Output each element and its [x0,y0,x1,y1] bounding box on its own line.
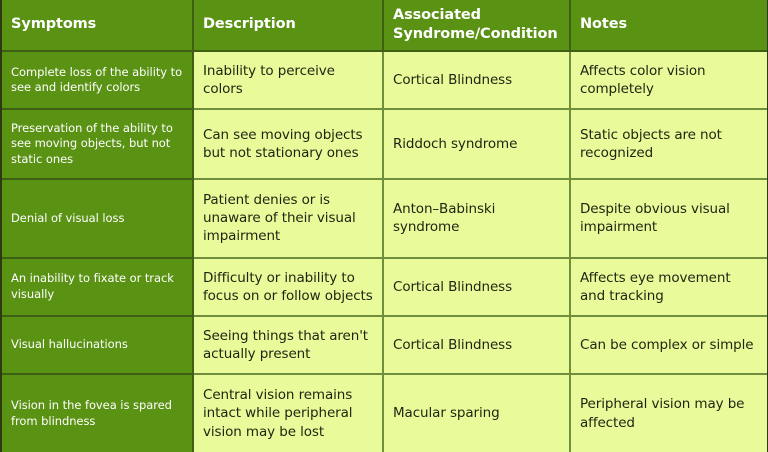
cell-description: Difficulty or inability to focus on or f… [193,258,383,316]
column-header-associated-syndrome-condition: Associated Syndrome/Condition [383,0,570,51]
cell-condition: Riddoch syndrome [383,109,570,179]
table-header: Symptoms Description Associated Syndrome… [2,0,767,51]
cell-notes: Affects eye movement and tracking [570,258,767,316]
header-row: Symptoms Description Associated Syndrome… [2,0,767,51]
cell-symptom: Complete loss of the ability to see and … [2,51,193,109]
table-row: An inability to fixate or track visually… [2,258,767,316]
column-header-description: Description [193,0,383,51]
cell-condition: Cortical Blindness [383,258,570,316]
symptoms-table: Symptoms Description Associated Syndrome… [2,0,767,452]
table-row: Vision in the fovea is spared from blind… [2,374,767,452]
cell-symptom: Vision in the fovea is spared from blind… [2,374,193,452]
table-row: Complete loss of the ability to see and … [2,51,767,109]
table-row: Visual hallucinations Seeing things that… [2,316,767,374]
cell-symptom: Visual hallucinations [2,316,193,374]
table-row: Denial of visual loss Patient denies or … [2,179,767,258]
cell-description: Can see moving objects but not stationar… [193,109,383,179]
cell-condition: Cortical Blindness [383,51,570,109]
cell-description: Patient denies or is unaware of their vi… [193,179,383,258]
cell-notes: Peripheral vision may be affected [570,374,767,452]
cell-condition: Cortical Blindness [383,316,570,374]
cell-notes: Affects color vision completely [570,51,767,109]
cell-description: Seeing things that aren't actually prese… [193,316,383,374]
symptoms-table-container: Symptoms Description Associated Syndrome… [0,0,768,452]
cell-notes: Can be complex or simple [570,316,767,374]
cell-description: Inability to perceive colors [193,51,383,109]
cell-symptom: Preservation of the ability to see movin… [2,109,193,179]
cell-condition: Anton–Babinski syndrome [383,179,570,258]
column-header-notes: Notes [570,0,767,51]
cell-notes: Despite obvious visual impairment [570,179,767,258]
cell-description: Central vision remains intact while peri… [193,374,383,452]
cell-condition: Macular sparing [383,374,570,452]
cell-symptom: An inability to fixate or track visually [2,258,193,316]
column-header-symptoms: Symptoms [2,0,193,51]
cell-notes: Static objects are not recognized [570,109,767,179]
table-row: Preservation of the ability to see movin… [2,109,767,179]
table-body: Complete loss of the ability to see and … [2,51,767,452]
cell-symptom: Denial of visual loss [2,179,193,258]
